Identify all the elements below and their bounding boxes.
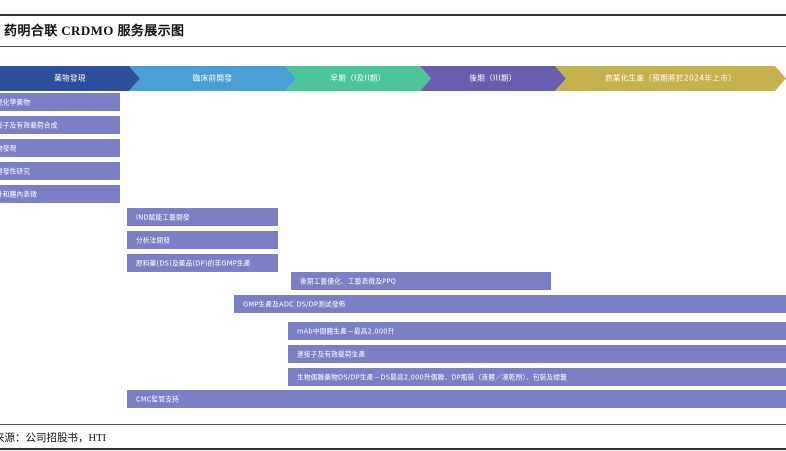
service-bar-9: 後期工藝優化、工藝表徵及PPQ	[291, 272, 551, 290]
service-bar-label: 開發性研究	[0, 166, 30, 176]
service-bar-label: 接子及有效載荷合成	[0, 120, 58, 130]
title-bottom-divider	[0, 46, 786, 47]
source-note: 来源：公司招股书，HTI	[0, 430, 106, 445]
phase-chevron-label: 藥物發現	[54, 73, 86, 84]
service-bar-1: 現化學藥物	[0, 93, 120, 111]
service-bar-label: 後期工藝優化、工藝表徵及PPQ	[300, 276, 396, 286]
phase-chevron-2: 臨床前開發	[129, 66, 296, 91]
service-bar-label: 外和體內表徵	[0, 189, 37, 199]
service-bar-3: 物發現	[0, 139, 120, 157]
service-bar-8: 原料藥(DS)及藥品(DP)的非GMP生產	[127, 254, 278, 272]
phase-chevron-5: 商業化生產（預期將於2024年上市）	[555, 66, 786, 91]
service-bar-label: GMP生產及ADC DS/DP測試發佈	[243, 299, 346, 309]
service-bar-5: 外和體內表徵	[0, 185, 120, 203]
service-bar-13: 生物偶聯藥物DS/DP生產－DS最高2,000升偶聯、DP瓶裝（液體／凍乾劑）、…	[288, 368, 786, 386]
phase-chevron-label: 臨床前開發	[193, 73, 233, 84]
service-bar-7: 分析法開發	[127, 231, 278, 249]
service-bar-2: 接子及有效載荷合成	[0, 116, 120, 134]
service-bar-label: 物發現	[0, 143, 17, 153]
phase-chevron-band: 藥物發現臨床前開發早期（I及II期）後期（III期）商業化生產（預期將於2024…	[0, 66, 786, 91]
crdmo-service-diagram: 药明合联 CRDMO 服务展示图 藥物發現臨床前開發早期（I及II期）後期（II…	[0, 0, 786, 451]
phase-chevron-label: 後期（III期）	[469, 73, 516, 84]
service-bar-label: 現化學藥物	[0, 97, 30, 107]
service-bar-label: IND賦能工藝開發	[136, 212, 190, 222]
page-title: 药明合联 CRDMO 服务展示图	[4, 20, 184, 39]
service-bar-4: 開發性研究	[0, 162, 120, 180]
service-bar-10: GMP生產及ADC DS/DP測試發佈	[234, 295, 786, 313]
service-bar-label: 分析法開發	[136, 235, 170, 245]
footer-bottom-divider	[0, 448, 786, 450]
phase-chevron-label: 早期（I及II期）	[330, 73, 385, 84]
service-bar-11: mAb中間體生產－最高2,000升	[288, 322, 786, 340]
service-bar-label: 原料藥(DS)及藥品(DP)的非GMP生產	[136, 258, 251, 268]
service-bar-12: 連接子及有效載荷生產	[288, 345, 786, 363]
service-bar-label: CMC監管支持	[136, 394, 179, 404]
service-bar-6: IND賦能工藝開發	[127, 208, 278, 226]
service-bar-label: 生物偶聯藥物DS/DP生產－DS最高2,000升偶聯、DP瓶裝（液體／凍乾劑）、…	[297, 372, 567, 382]
phase-chevron-3: 早期（I及II期）	[285, 66, 431, 91]
phase-chevron-label: 商業化生產（預期將於2024年上市）	[605, 73, 736, 84]
service-bar-14: CMC監管支持	[127, 390, 786, 408]
title-top-divider	[0, 14, 786, 16]
phase-chevron-1: 藥物發現	[0, 66, 140, 91]
phase-chevron-4: 後期（III期）	[420, 66, 566, 91]
service-bar-label: mAb中間體生產－最高2,000升	[297, 326, 395, 336]
footer-top-divider	[0, 424, 786, 425]
service-bar-label: 連接子及有效載荷生產	[297, 349, 365, 359]
